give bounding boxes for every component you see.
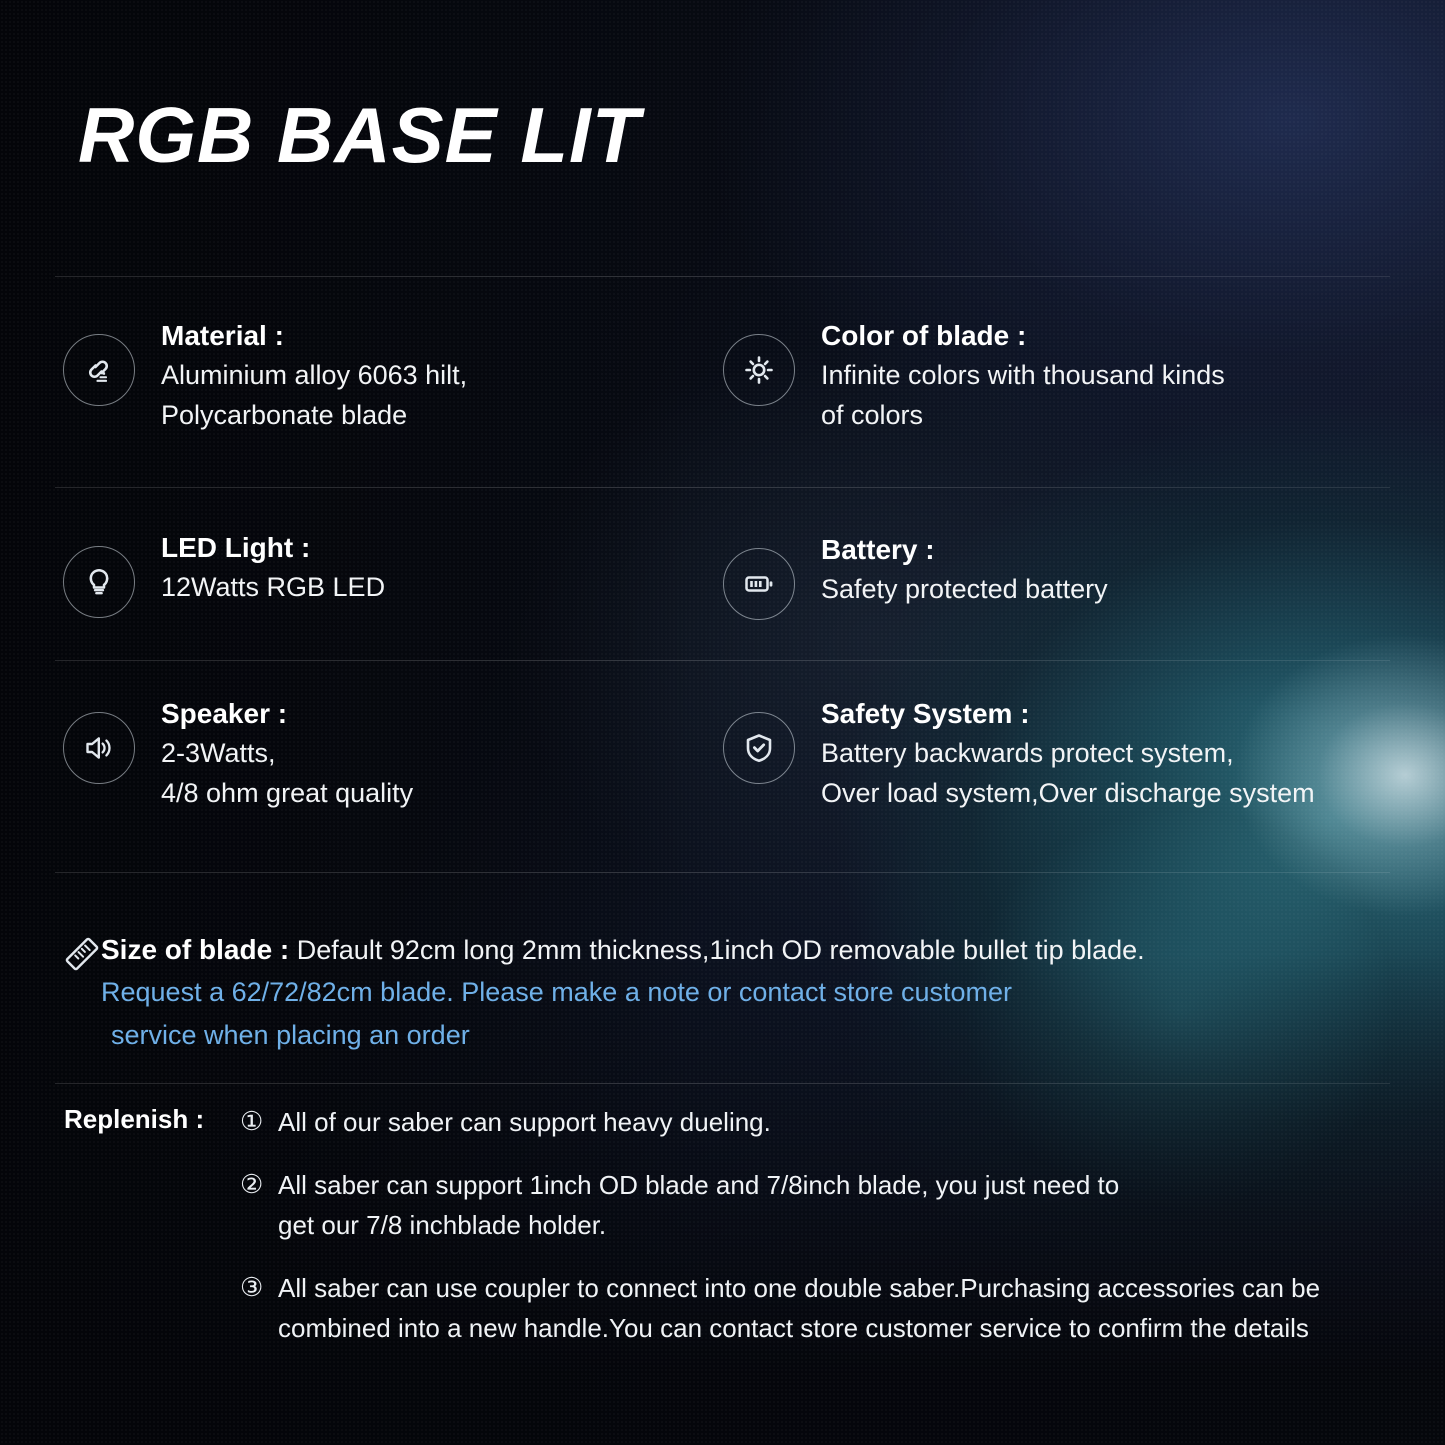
spec-label: Material : — [161, 316, 467, 356]
size-of-blade-note-line-1: Request a 62/72/82cm blade. Please make … — [101, 971, 1145, 1015]
safety-system-text: Safety System : Battery backwards protec… — [821, 694, 1315, 814]
color-of-blade-text: Color of blade : Infinite colors with th… — [821, 316, 1225, 436]
spec-value-line: Infinite colors with thousand kinds — [821, 356, 1225, 396]
replenish-item-number: ② — [240, 1165, 270, 1204]
speaker-text: Speaker : 2-3Watts, 4/8 ohm great qualit… — [161, 694, 413, 814]
replenish-item-line: All saber can use coupler to connect int… — [278, 1268, 1320, 1309]
divider-5 — [55, 1083, 1390, 1084]
spec-value-line: Over load system,Over discharge system — [821, 774, 1315, 814]
light-bulb-icon — [63, 546, 135, 618]
spec-label: Battery : — [821, 530, 1108, 570]
spec-item-color-of-blade: Color of blade : Infinite colors with th… — [723, 316, 1225, 436]
replenish-item-line: All saber can support 1inch OD blade and… — [278, 1165, 1119, 1206]
replenish-title: Replenish : — [64, 1102, 240, 1135]
spec-item-size-of-blade: Size of blade : Default 92cm long 2mm th… — [63, 930, 1145, 1058]
spec-item-safety-system: Safety System : Battery backwards protec… — [723, 694, 1315, 814]
list-item: ② All saber can support 1inch OD blade a… — [240, 1165, 1320, 1246]
speaker-icon — [63, 712, 135, 784]
spec-label: Speaker : — [161, 694, 413, 734]
product-spec-banner: RGB BASE LIT Material : Aluminium alloy … — [0, 0, 1445, 1445]
led-light-text: LED Light : 12Watts RGB LED — [161, 528, 385, 608]
replenish-item-line: All of our saber can support heavy dueli… — [278, 1102, 771, 1143]
replenish-item-list: ① All of our saber can support heavy due… — [240, 1102, 1320, 1349]
size-of-blade-value: Default 92cm long 2mm thickness,1inch OD… — [297, 935, 1145, 965]
ruler-icon — [63, 935, 101, 978]
replenish-section: Replenish : ① All of our saber can suppo… — [64, 1102, 1320, 1349]
replenish-item-line: combined into a new handle.You can conta… — [278, 1308, 1320, 1349]
replenish-item-body: All saber can support 1inch OD blade and… — [278, 1165, 1119, 1246]
spec-value-line: Aluminium alloy 6063 hilt, — [161, 356, 467, 396]
list-item: ③ All saber can use coupler to connect i… — [240, 1268, 1320, 1349]
divider-2 — [55, 487, 1390, 488]
shield-check-icon — [723, 712, 795, 784]
spec-value-line: Battery backwards protect system, — [821, 734, 1315, 774]
spec-value-line: 2-3Watts, — [161, 734, 413, 774]
spec-label: LED Light : — [161, 528, 385, 568]
divider-3 — [55, 660, 1390, 661]
spec-item-material: Material : Aluminium alloy 6063 hilt, Po… — [63, 316, 467, 436]
replenish-item-body: All of our saber can support heavy dueli… — [278, 1102, 771, 1143]
spec-value-line: of colors — [821, 396, 1225, 436]
material-text: Material : Aluminium alloy 6063 hilt, Po… — [161, 316, 467, 436]
divider-4 — [55, 872, 1390, 873]
spec-value-line: 12Watts RGB LED — [161, 568, 385, 608]
spec-value-line: 4/8 ohm great quality — [161, 774, 413, 814]
brightness-sun-icon — [723, 334, 795, 406]
size-of-blade-note-line-2: service when placing an order — [101, 1014, 1145, 1058]
replenish-item-body: All saber can use coupler to connect int… — [278, 1268, 1320, 1349]
page-title: RGB BASE LIT — [78, 96, 640, 174]
size-of-blade-label: Size of blade : — [101, 934, 289, 965]
battery-text: Battery : Safety protected battery — [821, 530, 1108, 610]
material-link-icon — [63, 334, 135, 406]
size-of-blade-main-line: Size of blade : Default 92cm long 2mm th… — [101, 930, 1145, 971]
spec-label: Color of blade : — [821, 316, 1225, 356]
spec-value-line: Safety protected battery — [821, 570, 1108, 610]
replenish-item-line: get our 7/8 inchblade holder. — [278, 1205, 1119, 1246]
spec-value-line: Polycarbonate blade — [161, 396, 467, 436]
battery-icon — [723, 548, 795, 620]
size-of-blade-text: Size of blade : Default 92cm long 2mm th… — [101, 930, 1145, 1058]
spec-label: Safety System : — [821, 694, 1315, 734]
divider-1 — [55, 276, 1390, 277]
list-item: ① All of our saber can support heavy due… — [240, 1102, 1320, 1143]
replenish-item-number: ① — [240, 1102, 270, 1141]
spec-item-speaker: Speaker : 2-3Watts, 4/8 ohm great qualit… — [63, 694, 413, 814]
replenish-item-number: ③ — [240, 1268, 270, 1307]
spec-item-battery: Battery : Safety protected battery — [723, 530, 1108, 620]
spec-item-led-light: LED Light : 12Watts RGB LED — [63, 528, 385, 618]
